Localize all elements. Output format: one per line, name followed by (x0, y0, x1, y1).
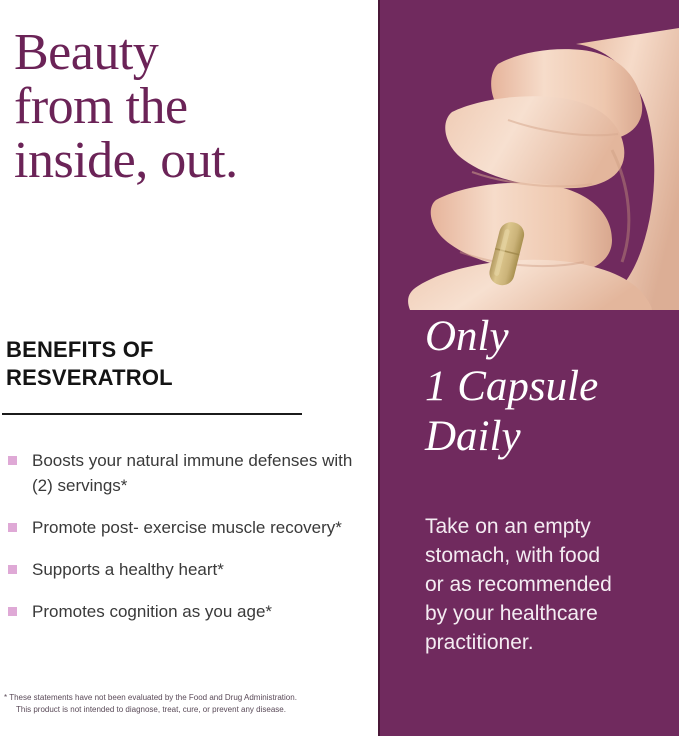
headline-line-2: from the (14, 80, 344, 134)
benefits-heading-line-2: RESVERATROL (6, 364, 336, 392)
benefit-text: Supports a healthy heart* (32, 557, 366, 582)
list-item: Promote post- exercise muscle recovery* (6, 515, 366, 540)
benefit-text: Promote post- exercise muscle recovery* (32, 515, 366, 540)
benefits-divider-rule (2, 413, 302, 415)
benefits-heading: BENEFITS OF RESVERATROL (6, 336, 336, 392)
instruction-line-4: by your healthcare (425, 599, 660, 628)
right-panel: SUGGESTED USE (380, 0, 679, 736)
list-item: Supports a healthy heart* (6, 557, 366, 582)
bullet-square-icon (8, 523, 17, 532)
bullet-square-icon (8, 456, 17, 465)
left-panel: Beauty from the inside, out. BENEFITS OF… (0, 0, 378, 736)
bullet-square-icon (8, 607, 17, 616)
usage-instructions: Take on an empty stomach, with food or a… (425, 512, 660, 657)
instruction-line-5: practitioner. (425, 628, 660, 657)
headline-line-3: inside, out. (14, 134, 344, 188)
instruction-line-2: stomach, with food (425, 541, 660, 570)
dosage-headline: Only 1 Capsule Daily (425, 312, 675, 462)
benefit-text: Boosts your natural immune defenses with… (32, 448, 366, 498)
disclaimer-line-2: This product is not intended to diagnose… (4, 704, 344, 716)
benefits-heading-line-1: BENEFITS OF (6, 336, 336, 364)
hand-holding-capsule-image (380, 0, 679, 310)
dosage-line-2: 1 Capsule (425, 362, 675, 412)
page-title: Beauty from the inside, out. (14, 26, 344, 188)
instruction-line-3: or as recommended (425, 570, 660, 599)
fda-disclaimer: * These statements have not been evaluat… (4, 692, 344, 716)
disclaimer-line-1: * These statements have not been evaluat… (4, 692, 344, 704)
bullet-square-icon (8, 565, 17, 574)
list-item: Boosts your natural immune defenses with… (6, 448, 366, 498)
benefit-text: Promotes cognition as you age* (32, 599, 366, 624)
instruction-line-1: Take on an empty (425, 512, 660, 541)
benefits-list: Boosts your natural immune defenses with… (6, 448, 366, 641)
dosage-line-1: Only (425, 312, 675, 362)
headline-line-1: Beauty (14, 26, 344, 80)
dosage-line-3: Daily (425, 412, 675, 462)
list-item: Promotes cognition as you age* (6, 599, 366, 624)
product-infographic: Beauty from the inside, out. BENEFITS OF… (0, 0, 679, 736)
